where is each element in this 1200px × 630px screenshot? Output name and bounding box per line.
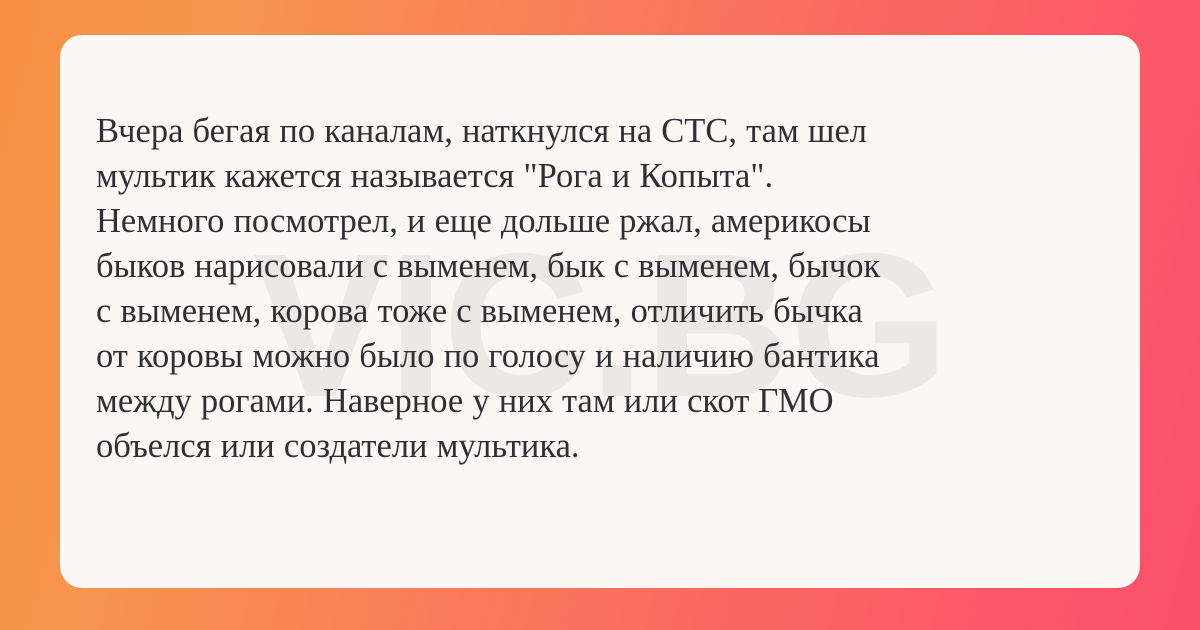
post-text: Вчера бегая по каналам, наткнулся на СТС… xyxy=(96,109,1108,469)
post-body: Вчера бегая по каналам, наткнулся на СТС… xyxy=(96,109,1108,469)
post-card: VIC.BG Вчера бегая по каналам, наткнулся… xyxy=(60,35,1140,588)
gradient-background: VIC.BG Вчера бегая по каналам, наткнулся… xyxy=(0,0,1200,630)
